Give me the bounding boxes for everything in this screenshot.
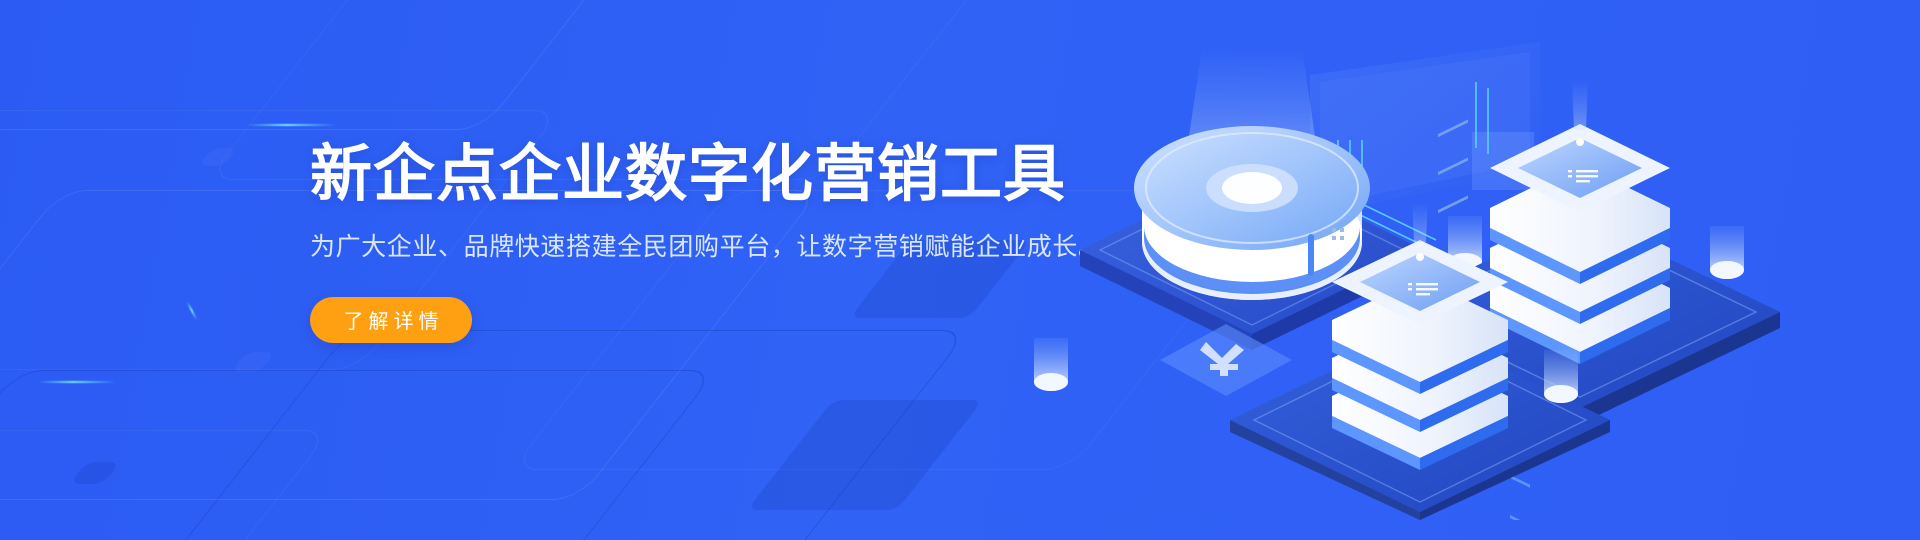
platform-post-4 [1034, 338, 1068, 391]
bg-diagonal-outline-1 [0, 0, 717, 130]
bg-plate-5 [747, 400, 983, 510]
bg-glow-dash-2 [38, 381, 116, 383]
bg-glow-dash-1 [246, 124, 336, 126]
hub-cylinder-device [1134, 126, 1370, 300]
platform-post-2 [1710, 226, 1744, 279]
promo-banner: 新企点企业数字化营销工具 为广大企业、品牌快速搭建全民团购平台，让数字营销赋能企… [0, 0, 1920, 540]
bg-glow-dash-3 [186, 302, 197, 321]
bg-diagonal-outline-6 [131, 330, 970, 540]
learn-more-button[interactable]: 了解详情 [310, 297, 472, 343]
bg-plate-2 [230, 352, 276, 372]
platform-post-3 [1544, 350, 1578, 403]
bg-diagonal-outline-5 [0, 430, 332, 540]
bg-plate-3 [69, 462, 120, 484]
bg-plate-1 [198, 148, 238, 166]
bg-diagonal-outline-4 [0, 370, 717, 540]
hero-illustration [1020, 20, 1800, 520]
